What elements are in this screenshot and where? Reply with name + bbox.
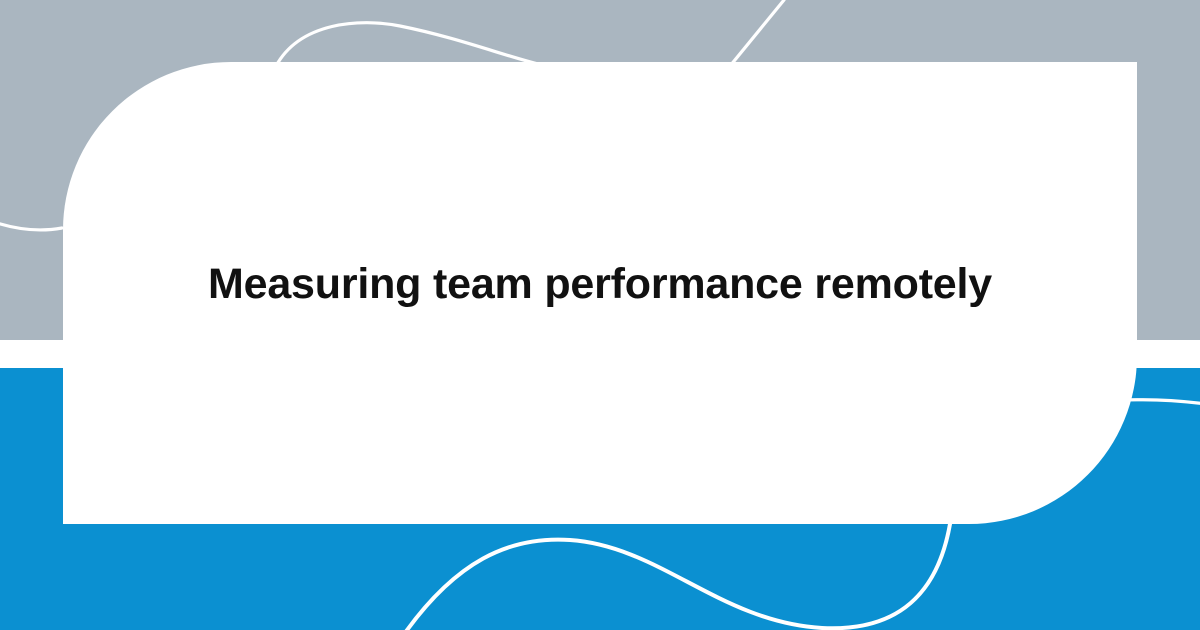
- social-card-canvas: Measuring team performance remotely: [0, 0, 1200, 630]
- page-title: Measuring team performance remotely: [63, 258, 1137, 310]
